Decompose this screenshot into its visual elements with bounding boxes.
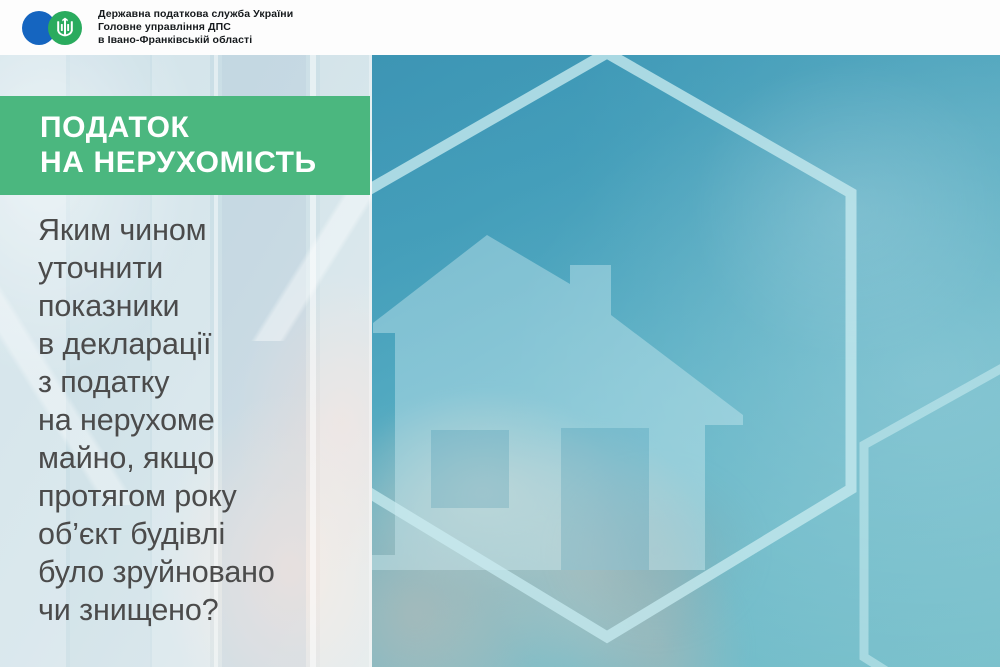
house-silhouette-icon (371, 230, 785, 610)
question-line-7: майно, якщо (38, 440, 368, 478)
question-line-6: на нерухоме (38, 402, 368, 440)
agency-logo (22, 11, 84, 45)
topic-banner-line-1: ПОДАТОК (0, 111, 370, 145)
question-line-8: протягом року (38, 478, 368, 516)
question-line-2: уточнити (38, 250, 368, 288)
question-line-10: було зруйновано (38, 554, 368, 592)
poster-page: Державна податкова служба України Головн… (0, 0, 1000, 667)
hexagon-outline-secondary-icon (859, 337, 1000, 667)
question-line-4: в декларації (38, 326, 368, 364)
org-line-1: Державна податкова служба України (98, 8, 293, 21)
page-header: Державна податкова служба України Головн… (0, 0, 1000, 55)
org-line-2: Головне управління ДПС (98, 21, 293, 34)
hero-photo-panel (371, 55, 1000, 667)
topic-banner-line-2: НА НЕРУХОМІСТЬ (0, 146, 370, 180)
question-line-3: показники (38, 288, 368, 326)
question-text: Яким чином уточнити показники в декларац… (38, 212, 368, 630)
org-line-3: в Івано-Франківській області (98, 34, 293, 47)
question-line-5: з податку (38, 364, 368, 402)
agency-name: Державна податкова служба України Головн… (98, 8, 293, 48)
question-line-11: чи знищено? (38, 592, 368, 630)
topic-banner: ПОДАТОК НА НЕРУХОМІСТЬ (0, 96, 370, 195)
ukraine-trident-icon (48, 11, 82, 45)
question-line-1: Яким чином (38, 212, 368, 250)
question-line-9: об’єкт будівлі (38, 516, 368, 554)
